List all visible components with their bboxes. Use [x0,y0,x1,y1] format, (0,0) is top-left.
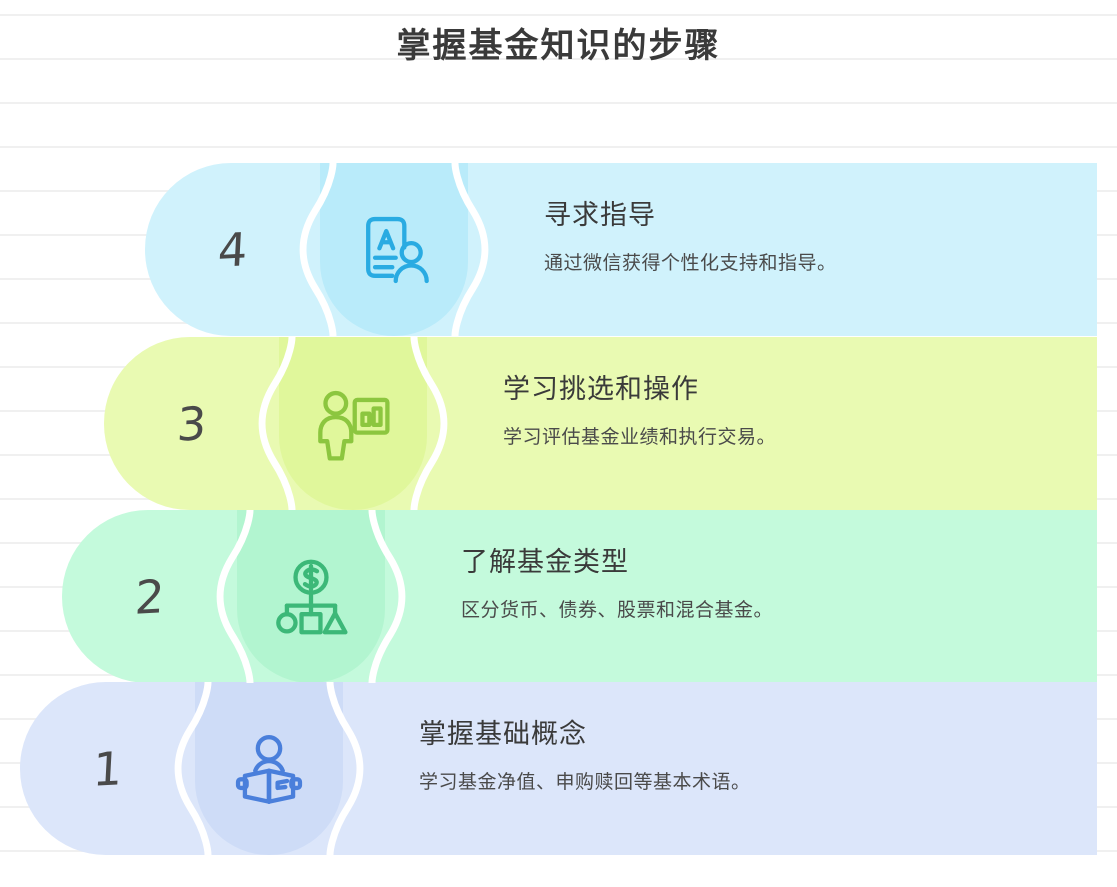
step-text-column: 学习挑选和操作 学习评估基金业绩和执行交易。 [427,337,1097,510]
step-title: 了解基金类型 [461,540,1077,579]
step-text-column: 了解基金类型 区分货币、债券、股票和混合基金。 [385,510,1097,683]
step-description: 区分货币、债券、股票和混合基金。 [461,595,1077,622]
step-number-column: 1 [20,682,195,855]
step-icon-column [237,510,385,683]
id-card-person-icon [351,207,437,293]
step-number: 2 [133,569,165,624]
step-number-column: 4 [145,163,320,336]
step-text-column: 寻求指导 通过微信获得个性化支持和指导。 [468,163,1097,336]
page-title: 掌握基金知识的步骤 [0,18,1117,67]
step-icon-column [320,163,468,336]
dollar-hierarchy-icon [268,554,354,640]
step-number: 4 [216,222,248,277]
step-number-column: 2 [62,510,237,683]
steps-list: 4 寻 [0,163,1117,855]
step-title: 寻求指导 [544,193,1077,232]
step-icon-column [279,337,427,510]
step-card-4[interactable]: 4 寻 [145,163,1097,336]
step-description: 通过微信获得个性化支持和指导。 [544,248,1077,275]
step-text-column: 掌握基础概念 学习基金净值、申购赎回等基本术语。 [343,682,1097,855]
step-description: 学习基金净值、申购赎回等基本术语。 [419,767,1077,794]
step-icon-column [195,682,343,855]
step-card-1[interactable]: 1 [20,682,1097,855]
step-number: 1 [91,741,123,796]
step-card-2[interactable]: 2 [62,510,1097,683]
person-reading-book-icon [226,726,312,812]
step-number-column: 3 [104,337,279,510]
step-title: 学习挑选和操作 [503,367,1077,406]
step-title: 掌握基础概念 [419,712,1077,751]
step-card-3[interactable]: 3 学习挑选和操作 [104,337,1097,510]
presenter-chart-icon [310,381,396,467]
step-description: 学习评估基金业绩和执行交易。 [503,422,1077,449]
step-number: 3 [175,396,207,451]
